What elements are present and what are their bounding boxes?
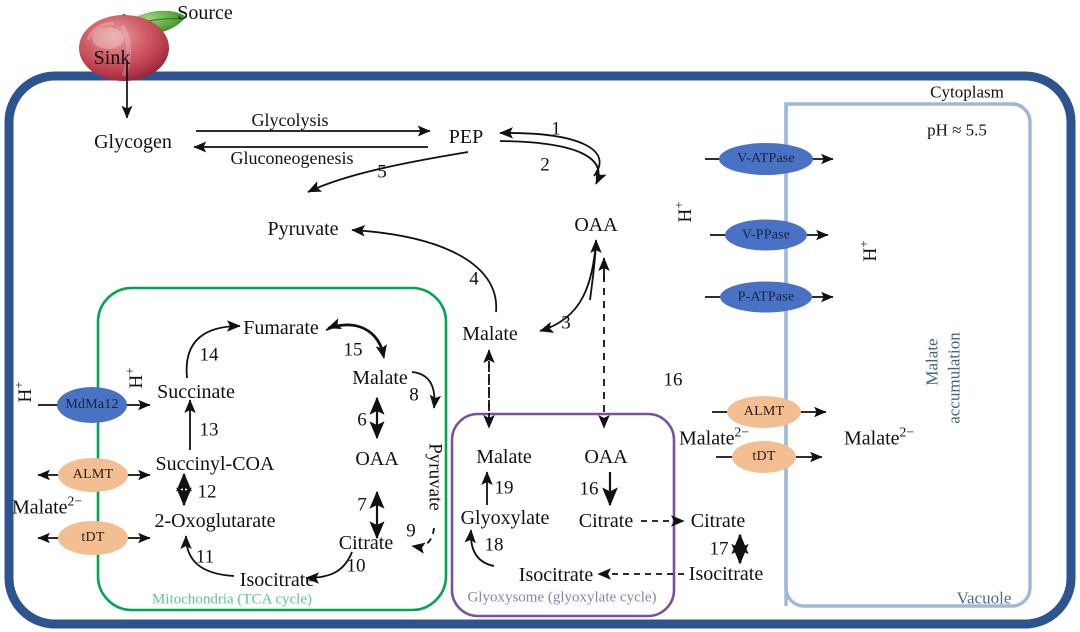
sink-label: Sink (94, 48, 131, 68)
metabolite-citrate-cytosol: Citrate (691, 511, 745, 531)
mitochondria-label: Mitochondria (TCA cycle) (152, 593, 312, 608)
malate-accumulation-label-2: accumulation (946, 332, 963, 424)
reaction-number-1: 1 (551, 120, 561, 139)
reaction-number-16-glyoxysome: 16 (580, 480, 599, 499)
reaction-number-14: 14 (200, 346, 219, 365)
proton-label-mito-out: H+ (13, 381, 35, 402)
reaction-number-19: 19 (495, 479, 514, 498)
metabolite-malate-ion-vacuole: Malate2− (844, 426, 914, 449)
metabolite-2-oxoglutarate: 2-Oxoglutarate (154, 511, 275, 531)
reaction-number-11: 11 (196, 548, 214, 567)
metabolite-pep: PEP (449, 127, 483, 147)
arrow-3-head-to-oaa (590, 240, 596, 300)
proton-charge-2: + (122, 367, 137, 374)
metabolite-oaa-mito: OAA (355, 449, 398, 469)
proton-label-mito-in: H+ (124, 367, 146, 388)
metabolite-glycogen: Glycogen (94, 132, 172, 152)
glyoxysome-label: Glyoxysome (glyoxylate cycle) (467, 591, 656, 606)
reaction-number-9: 9 (406, 522, 416, 541)
metabolite-oaa-glyoxysome: OAA (584, 447, 627, 467)
diagram-vector-layer (0, 0, 1080, 632)
metabolite-malate-ion-cytosol: Malate2− (679, 426, 749, 449)
proton-charge-4: + (856, 240, 871, 247)
reaction-number-8: 8 (409, 386, 419, 405)
reaction-number-15: 15 (344, 341, 363, 360)
transporter-tdt-tonoplast[interactable]: tDT (732, 441, 796, 473)
apple-illustration (79, 11, 186, 81)
metabolite-citrate-mito: Citrate (339, 533, 393, 553)
metabolite-malate-cytosol: Malate (462, 324, 518, 344)
malate-charge-1: 2− (68, 494, 82, 509)
vacuole-label: Vacuole (957, 590, 1012, 607)
transporter-mdma12[interactable]: MdMa12 (57, 387, 127, 423)
reaction-number-17: 17 (710, 540, 729, 559)
reaction-number-16-cytosol: 16 (664, 371, 683, 390)
reaction-number-7: 7 (357, 496, 367, 515)
proton-charge-3: + (671, 201, 686, 208)
tonoplast-membrane (786, 104, 1030, 606)
metabolite-malate-ion-mito: Malate2− (12, 495, 82, 518)
transporter-almt-mitochondria[interactable]: ALMT (58, 458, 128, 492)
reaction-number-6: 6 (357, 411, 367, 430)
metabolite-isocitrate-mito: Isocitrate (240, 570, 314, 590)
metabolite-malate-glyoxysome: Malate (476, 447, 532, 467)
transporter-v-atpase[interactable]: V-ATPase (719, 143, 813, 175)
metabolite-citrate-glyoxysome: Citrate (579, 511, 633, 531)
malate-accumulation-label: Malate (924, 338, 941, 385)
source-label: Source (177, 3, 233, 23)
reaction-number-2: 2 (540, 156, 550, 175)
proton-charge-1: + (11, 381, 26, 388)
metabolite-pyruvate-cytosol: Pyruvate (267, 219, 338, 239)
glycolysis-label: Glycolysis (251, 111, 328, 129)
proton-label-vacuole: H+ (858, 240, 880, 261)
reaction-number-12: 12 (198, 483, 217, 502)
metabolite-succinyl-coa: Succinyl-COA (156, 454, 275, 474)
reaction-number-13: 13 (200, 421, 219, 440)
reaction-number-5: 5 (377, 163, 387, 182)
transporter-tdt-mitochondria[interactable]: tDT (58, 521, 128, 555)
metabolite-fumarate: Fumarate (243, 318, 319, 338)
metabolite-malate-mito: Malate (352, 368, 408, 388)
gluconeogenesis-label: Gluconeogenesis (231, 149, 354, 167)
transporter-v-ppase[interactable]: V-PPase (725, 220, 807, 251)
malate-charge-3: 2− (900, 425, 914, 440)
proton-label-cytosol: H+ (673, 201, 695, 222)
vacuole-ph-label: pH ≈ 5.5 (927, 122, 987, 139)
metabolite-isocitrate-glyoxysome: Isocitrate (519, 565, 593, 585)
cytoplasm-label: Cytoplasm (930, 84, 1004, 101)
metabolite-oaa-cytosol: OAA (574, 215, 617, 235)
pathway-diagram: Source Sink Cytoplasm Vacuole pH ≈ 5.5 M… (0, 0, 1080, 632)
metabolite-succinate: Succinate (157, 382, 235, 402)
reaction-number-10: 10 (347, 557, 366, 576)
reaction-number-4: 4 (469, 270, 479, 289)
reaction-number-3: 3 (561, 314, 571, 333)
metabolite-glyoxylate: Glyoxylate (461, 508, 550, 528)
malate-charge-2: 2− (735, 425, 749, 440)
metabolite-pyruvate-mito: Pyruvate (426, 443, 445, 511)
reaction-number-18: 18 (485, 536, 504, 555)
metabolite-isocitrate-cytosol: Isocitrate (689, 564, 763, 584)
transporter-p-atpase[interactable]: P-ATPase (720, 282, 812, 313)
transporter-almt-tonoplast[interactable]: ALMT (727, 396, 801, 428)
